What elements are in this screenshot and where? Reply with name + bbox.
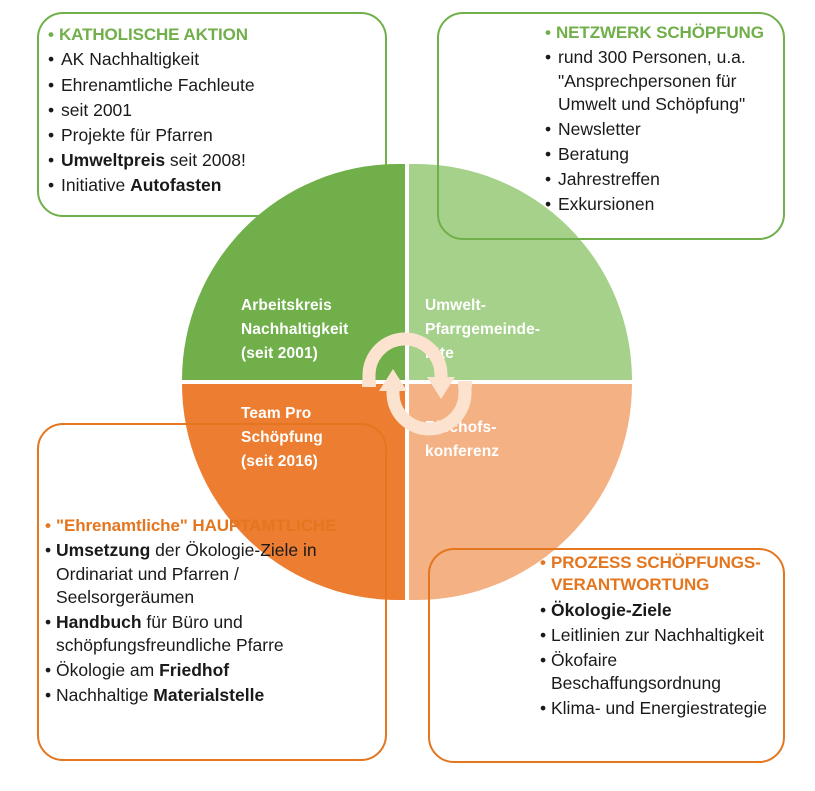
list-item: •Handbuch für Büro und schöpfungsfreundl… (45, 611, 345, 657)
bullet-icon: • (545, 118, 551, 141)
list-item-text: Nachhaltige (56, 685, 153, 705)
list-item-emphasis: Handbuch (56, 612, 142, 632)
heading-text: NETZWERK SCHÖPFUNG (556, 23, 764, 42)
list-item-text: Newsletter (558, 119, 641, 139)
quadrant-label-arbeitskreis: Arbeitskreis Nachhaltigkeit (seit 2001) (241, 294, 391, 366)
bullet-icon: • (48, 48, 54, 71)
quadrant-label-line: (seit 2001) (241, 342, 391, 366)
heading-text: KATHOLISCHE AKTION (59, 25, 248, 44)
quadrant-label-line: Nachhaltigkeit (241, 318, 391, 342)
bullet-icon: • (540, 697, 546, 720)
bullet-icon: • (545, 143, 551, 166)
list-item: •Initiative Autofasten (48, 174, 378, 197)
quadrant-label-line: Pfarrgemeinde- (425, 318, 605, 342)
list-item-text: AK Nachhaltigkeit (61, 49, 199, 69)
list-item: •Leitlinien zur Nachhaltigkeit (540, 624, 790, 647)
list-item: •AK Nachhaltigkeit (48, 48, 378, 71)
bullet-icon: • (45, 684, 51, 707)
bullet-icon: • (48, 149, 54, 172)
list-item: •Klima- und Energiestrategie (540, 697, 790, 720)
bullet-icon: • (45, 611, 51, 634)
bullet-icon: • (48, 24, 54, 46)
quadrant-label-bischofskonferenz: Bischofs- konferenz (425, 416, 605, 464)
content-netzwerk-schoepfung: •NETZWERK SCHÖPFUNG •rund 300 Personen, … (545, 22, 785, 218)
list-item-text: seit 2001 (61, 100, 132, 120)
quadrant-label-line: Umwelt- (425, 294, 605, 318)
content-prozess-schoepfungsverantwortung: •PROZESS SCHÖPFUNGS-VERANTWORTUNG •Ökolo… (540, 552, 790, 722)
list-item-emphasis: Umweltpreis (61, 150, 165, 170)
heading-text: "Ehrenamtliche" HAUPTAMTLICHE (56, 516, 336, 535)
bullet-icon: • (540, 649, 546, 672)
content-ehrenamtliche-hauptamtliche: •"Ehrenamtliche" HAUPTAMTLICHE •Umsetzun… (45, 515, 345, 709)
list-item: •Beratung (545, 143, 785, 166)
bullet-icon: • (45, 515, 51, 537)
bullet-icon: • (48, 174, 54, 197)
list-item-text: Ehrenamtliche Fachleute (61, 75, 255, 95)
diagram-canvas: Arbeitskreis Nachhaltigkeit (seit 2001) … (0, 0, 815, 791)
list-item: •Exkursionen (545, 193, 785, 216)
list-item: •Umsetzung der Ökologie-Ziele in Ordinar… (45, 539, 345, 608)
quadrant-label-line: Arbeitskreis (241, 294, 391, 318)
heading-ehrenamtliche-hauptamtliche: •"Ehrenamtliche" HAUPTAMTLICHE (45, 515, 345, 537)
list-item: •Ökologie am Friedhof (45, 659, 345, 682)
bullet-icon: • (48, 74, 54, 97)
list-item: •Ehrenamtliche Fachleute (48, 74, 378, 97)
list-item-emphasis: Autofasten (130, 175, 221, 195)
heading-prozess-schoepfungsverantwortung: •PROZESS SCHÖPFUNGS-VERANTWORTUNG (540, 552, 790, 597)
bullet-icon: • (540, 624, 546, 647)
list-item-text: Leitlinien zur Nachhaltigkeit (551, 625, 764, 645)
quadrant-label-line: Bischofs- (425, 416, 605, 440)
list-item-text: Ökologie am (56, 660, 159, 680)
list-item-emphasis: Umsetzung (56, 540, 150, 560)
list-item-text: Klima- und Energiestrategie (551, 698, 767, 718)
list-item: •Umweltpreis seit 2008! (48, 149, 378, 172)
bullet-icon: • (545, 46, 551, 69)
list-item: •Nachhaltige Materialstelle (45, 684, 345, 707)
bullet-icon: • (48, 124, 54, 147)
content-katholische-aktion: •KATHOLISCHE AKTION •AK Nachhaltigkeit •… (48, 24, 378, 199)
list-item: •seit 2001 (48, 99, 378, 122)
list-item: •Newsletter (545, 118, 785, 141)
list-item-text: Projekte für Pfarren (61, 125, 213, 145)
bullet-icon: • (45, 539, 51, 562)
list-item-text: Jahrestreffen (558, 169, 660, 189)
list-item-emphasis: Friedhof (159, 660, 229, 680)
bullet-icon: • (45, 659, 51, 682)
list-item: •Ökologie-Ziele (540, 599, 790, 622)
quadrant-label-line: konferenz (425, 440, 605, 464)
list-item: •Projekte für Pfarren (48, 124, 378, 147)
heading-netzwerk-schoepfung: •NETZWERK SCHÖPFUNG (545, 22, 785, 44)
quadrant-label-line: räte (425, 342, 605, 366)
heading-text: PROZESS SCHÖPFUNGS-VERANTWORTUNG (551, 553, 761, 594)
bullet-icon: • (545, 193, 551, 216)
list-item-text: seit 2008! (165, 150, 246, 170)
list-item-text: Exkursionen (558, 194, 654, 214)
bullet-icon: • (540, 552, 546, 574)
bullet-icon: • (48, 99, 54, 122)
list-item: •Jahrestreffen (545, 168, 785, 191)
bullet-icon: • (545, 168, 551, 191)
bullet-icon: • (540, 599, 546, 622)
list-item-text: Initiative (61, 175, 130, 195)
quadrant-label-umwelt: Umwelt- Pfarrgemeinde- räte (425, 294, 605, 366)
list-item-emphasis: Ökologie-Ziele (551, 600, 672, 620)
list-item-text: rund 300 Personen, u.a. "Ansprechpersone… (558, 47, 746, 113)
list-item: •rund 300 Personen, u.a. "Ansprechperson… (545, 46, 785, 115)
list-item-text: Ökofaire Beschaffungsordnung (551, 650, 721, 693)
list-item-emphasis: Materialstelle (153, 685, 264, 705)
heading-katholische-aktion: •KATHOLISCHE AKTION (48, 24, 378, 46)
list-item: •Ökofaire Beschaffungsordnung (540, 649, 790, 695)
bullet-icon: • (545, 22, 551, 44)
list-item-text: Beratung (558, 144, 629, 164)
